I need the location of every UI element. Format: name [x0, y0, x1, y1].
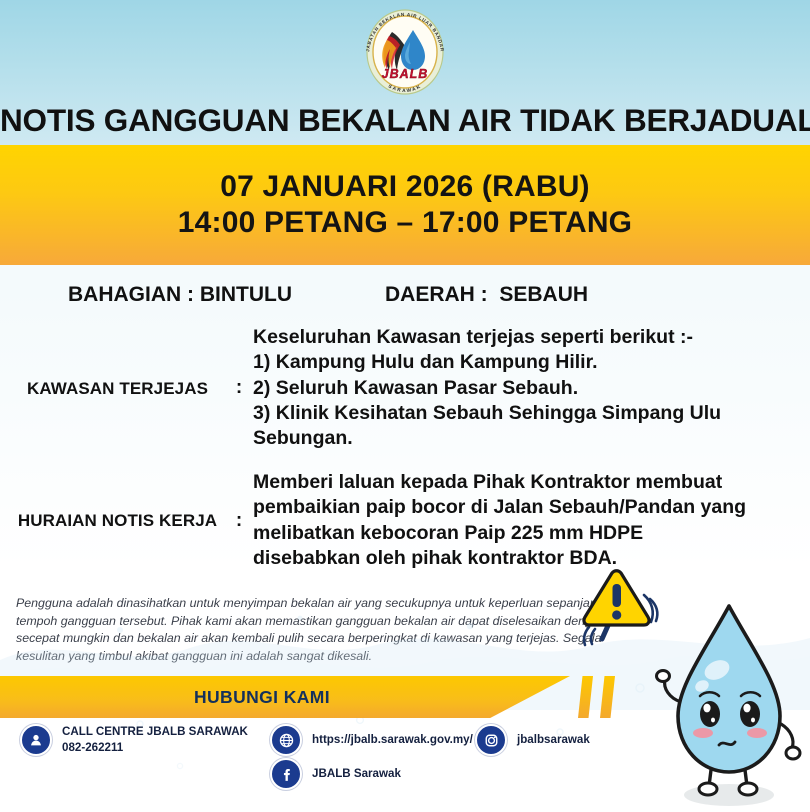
- division-block: BAHAGIAN : BINTULU: [68, 283, 292, 307]
- page-title: NOTIS GANGGUAN BEKALAN AIR TIDAK BERJADU…: [0, 102, 810, 139]
- jbalb-logo: JABATAN BEKALAN AIR LUAR BANDAR SARAWAK …: [359, 6, 451, 98]
- work-description-value: Memberi laluan kepada Pihak Kontraktor m…: [253, 470, 746, 571]
- contact-call-centre[interactable]: CALL CENTRE JBALB SARAWAK 082-262211: [22, 724, 248, 756]
- affected-area-label: KAWASAN TERJEJAS: [10, 377, 225, 399]
- affected-area-line: 2) Seluruh Kawasan Pasar Sebauh.: [253, 376, 721, 401]
- affected-area-line: Keseluruhan Kawasan terjejas seperti ber…: [253, 325, 721, 350]
- district-label: DAERAH :: [385, 283, 488, 306]
- division-value: BINTULU: [200, 283, 292, 306]
- notice-time: 14:00 PETANG – 17:00 PETANG: [178, 206, 632, 240]
- banner-stripe-decoration: [600, 676, 615, 718]
- contact-call-centre-text: CALL CENTRE JBALB SARAWAK 082-262211: [62, 724, 248, 756]
- district-value: SEBAUH: [499, 283, 588, 306]
- notice-date: 07 JANUARI 2026 (RABU): [220, 170, 590, 204]
- work-description-line: pembaikian paip bocor di Jalan Sebauh/Pa…: [253, 495, 746, 520]
- contact-facebook[interactable]: JBALB Sarawak: [272, 760, 401, 788]
- contact-banner-title: HUBUNGI KAMI: [0, 676, 570, 718]
- affected-area-line: 3) Klinik Kesihatan Sebauh Sehingga Simp…: [253, 401, 721, 426]
- affected-area-row: KAWASAN TERJEJAS : Keseluruhan Kawasan t…: [10, 325, 721, 452]
- contact-instagram[interactable]: jbalbsarawak: [477, 726, 590, 754]
- contact-line-1: CALL CENTRE JBALB SARAWAK: [62, 725, 248, 738]
- user-icon: [22, 726, 50, 754]
- facebook-icon: [272, 760, 300, 788]
- contact-facebook-text: JBALB Sarawak: [312, 766, 401, 782]
- date-time-band: 07 JANUARI 2026 (RABU) 14:00 PETANG – 17…: [0, 145, 810, 265]
- affected-area-colon: :: [225, 377, 253, 399]
- advisory-note: Pengguna adalah dinasihatkan untuk menyi…: [16, 595, 616, 665]
- affected-area-line: Sebungan.: [253, 426, 721, 451]
- instagram-icon: [477, 726, 505, 754]
- work-description-label: HURAIAN NOTIS KERJA: [10, 511, 225, 531]
- contact-instagram-text: jbalbsarawak: [517, 732, 590, 748]
- poster-header: JABATAN BEKALAN AIR LUAR BANDAR SARAWAK …: [0, 0, 810, 145]
- work-description-row: HURAIAN NOTIS KERJA : Memberi laluan kep…: [10, 470, 746, 571]
- contact-line-2: 082-262211: [62, 741, 123, 754]
- notice-poster: JABATAN BEKALAN AIR LUAR BANDAR SARAWAK …: [0, 0, 810, 812]
- banner-stripe-decoration: [578, 676, 593, 718]
- division-label: BAHAGIAN :: [68, 283, 194, 306]
- work-description-colon: :: [225, 510, 253, 532]
- globe-icon: [272, 726, 300, 754]
- district-block: DAERAH : SEBAUH: [385, 283, 588, 307]
- water-droplet-mascot: [645, 588, 810, 812]
- work-description-line: disebabkan oleh pihak kontraktor BDA.: [253, 546, 746, 571]
- work-description-line: Memberi laluan kepada Pihak Kontraktor m…: [253, 470, 746, 495]
- svg-text:JBALB: JBALB: [382, 67, 429, 81]
- work-description-line: melibatkan kebocoran Paip 225 mm HDPE: [253, 521, 746, 546]
- contact-website-text: https://jbalb.sarawak.gov.my/: [312, 732, 473, 748]
- affected-area-value: Keseluruhan Kawasan terjejas seperti ber…: [253, 325, 721, 452]
- contact-website[interactable]: https://jbalb.sarawak.gov.my/: [272, 726, 473, 754]
- affected-area-line: 1) Kampung Hulu dan Kampung Hilir.: [253, 350, 721, 375]
